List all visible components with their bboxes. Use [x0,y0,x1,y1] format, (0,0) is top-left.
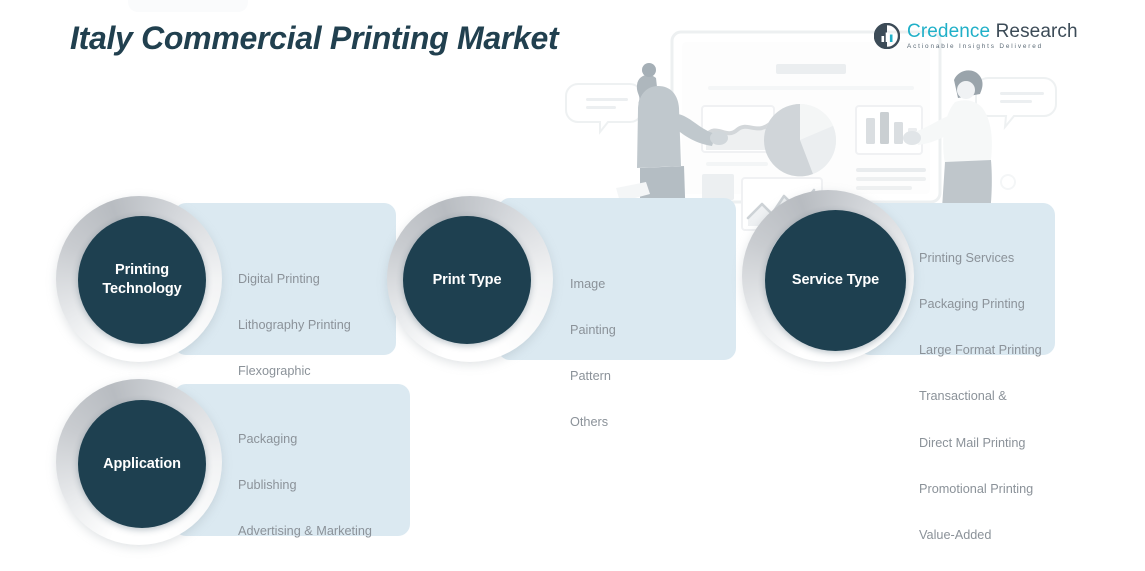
segment-title: PrintingTechnology [96,261,187,298]
segment-bubble[interactable]: Print Type [403,216,531,344]
list-item: Direct Mail Printing [919,436,1042,451]
list-item: Painting [570,323,616,338]
list-item: Packaging Printing [919,297,1042,312]
list-item: Digital Printing [238,272,351,287]
list-item: Large Format Printing [919,343,1042,358]
infographic-canvas: Italy Commercial Printing Market Credenc… [0,0,1145,571]
logo-name-secondary: Research [996,21,1078,42]
logo-tagline: Actionable Insights Delivered [907,44,1078,50]
list-item: Image [570,277,616,292]
list-item: Printing Services [919,251,1042,266]
page-title: Italy Commercial Printing Market [70,20,558,57]
segment-title: Print Type [427,271,508,290]
list-item: Transactional & [919,389,1042,404]
list-item: Value-Added [919,528,1042,543]
logo-name-primary: Credence [907,21,990,42]
decorative-top-shape [128,0,248,12]
list-item: Flexographic [238,364,351,379]
segment-item-list: Image Painting Pattern Others [570,246,616,462]
segment-bubble[interactable]: Service Type [765,210,906,351]
list-item: Advertising & Marketing [238,524,380,539]
speech-bubble-right [976,78,1056,127]
segment-title: Service Type [786,271,885,290]
bar-chart-circle-icon [874,23,900,49]
list-item: Others [570,415,616,430]
segment-bubble[interactable]: PrintingTechnology [78,216,206,344]
segment-title: Application [97,455,187,474]
list-item: Lithography Printing [238,318,351,333]
segment-item-list: Packaging Publishing Advertising & Marke… [238,401,380,571]
brand-logo: Credence Research Actionable Insights De… [874,22,1078,50]
list-item: Promotional Printing [919,482,1042,497]
segment-bubble[interactable]: Application [78,400,206,528]
list-item: Packaging [238,432,380,447]
list-item: Publishing [238,478,380,493]
segment-item-list: Printing Services Packaging Printing Lar… [919,220,1042,571]
speech-bubble-left [566,84,642,132]
list-item: Pattern [570,369,616,384]
person-right-illustration [903,70,992,224]
